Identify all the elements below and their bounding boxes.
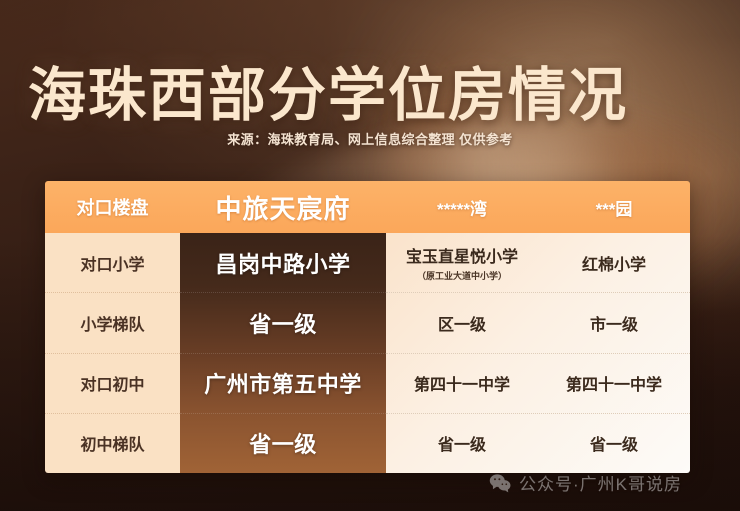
table-row-label: 小学梯队 — [45, 293, 180, 353]
table-cell: 昌岗中路小学 — [180, 233, 386, 293]
table-cell: 红棉小学 — [538, 233, 690, 292]
highlighted-property-column: 昌岗中路小学 省一级 广州市第五中学 省一级 — [180, 233, 386, 473]
table-row: 省一级 省一级 — [386, 414, 690, 473]
table-row: 宝玉直星悦小学 （原工业大道中小学） 红棉小学 — [386, 233, 690, 293]
table-cell: 第四十一中学 — [538, 354, 690, 413]
school-district-table: 对口楼盘 中旅天宸府 *****湾 ***园 对口小学 小学梯队 对口初中 初中… — [45, 181, 690, 473]
table-cell: 区一级 — [386, 293, 538, 352]
table-cell: 省一级 — [386, 414, 538, 473]
source-caption: 来源：海珠教育局、网上信息综合整理 仅供参考 — [0, 129, 740, 148]
table-row-label: 对口小学 — [45, 233, 180, 293]
column-header-highlighted: 中旅天宸府 — [180, 181, 386, 233]
row-label-column: 对口小学 小学梯队 对口初中 初中梯队 — [45, 233, 180, 473]
table-cell: 省一级 — [538, 414, 690, 473]
table-row-label: 对口初中 — [45, 354, 180, 414]
table-row: 第四十一中学 第四十一中学 — [386, 354, 690, 414]
column-header-third: *****湾 — [386, 181, 538, 233]
column-header-fourth: ***园 — [538, 181, 690, 233]
other-properties-columns: 宝玉直星悦小学 （原工业大道中小学） 红棉小学 区一级 市一级 — [386, 233, 690, 473]
table-cell: 广州市第五中学 — [180, 354, 386, 414]
column-header-property: 对口楼盘 — [45, 181, 180, 233]
table-body: 对口小学 小学梯队 对口初中 初中梯队 昌岗中路小学 省一级 广州市第五中学 省… — [45, 233, 690, 473]
table-row: 区一级 市一级 — [386, 293, 690, 353]
table-cell: 市一级 — [538, 293, 690, 352]
table-row-label: 初中梯队 — [45, 414, 180, 473]
table-cell: 省一级 — [180, 414, 386, 473]
table-cell: 省一级 — [180, 293, 386, 353]
table-cell: 第四十一中学 — [386, 354, 538, 413]
table-cell: 宝玉直星悦小学 （原工业大道中小学） — [386, 233, 538, 292]
page-title: 海珠西部分学位房情况 — [28, 48, 628, 132]
table-header-row: 对口楼盘 中旅天宸府 *****湾 ***园 — [45, 181, 690, 233]
